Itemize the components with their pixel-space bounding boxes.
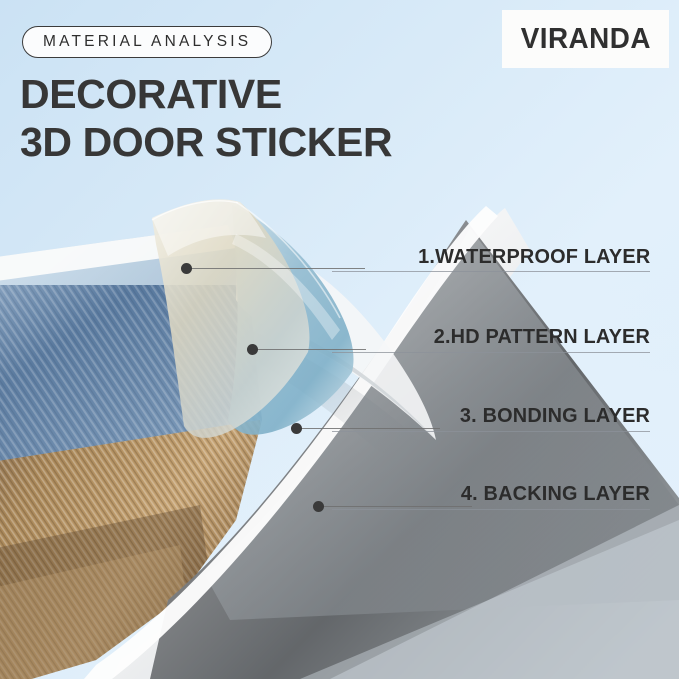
page-title-line-1: DECORATIVE bbox=[20, 71, 282, 117]
page-title-line-2: 3D DOOR STICKER bbox=[20, 118, 392, 166]
eyebrow-badge: MATERIAL ANALYSIS bbox=[22, 26, 272, 58]
callout-rule-1 bbox=[332, 271, 650, 272]
callout-label-3-text: 3. BONDING LAYER bbox=[460, 404, 650, 428]
callout-dot-1 bbox=[181, 263, 192, 274]
callout-label-2: 2.HD PATTERN LAYER bbox=[330, 325, 650, 349]
brand-logo: VIRANDA bbox=[502, 10, 669, 68]
infographic-canvas: MATERIAL ANALYSIS VIRANDA DECORATIVE 3D … bbox=[0, 0, 679, 679]
eyebrow-label: MATERIAL ANALYSIS bbox=[43, 33, 251, 51]
leader-line-3 bbox=[300, 428, 440, 429]
callout-rule-2 bbox=[332, 352, 650, 353]
callout-label-4: 4. BACKING LAYER bbox=[330, 482, 650, 506]
callout-dot-4 bbox=[313, 501, 324, 512]
callout-label-2-text: 2.HD PATTERN LAYER bbox=[434, 325, 650, 349]
callout-label-1: 1.WATERPROOF LAYER bbox=[330, 245, 650, 269]
callout-rule-4 bbox=[332, 509, 650, 510]
callout-label-3: 3. BONDING LAYER bbox=[330, 404, 650, 428]
callout-dot-2 bbox=[247, 344, 258, 355]
brand-name: VIRANDA bbox=[520, 23, 650, 56]
leader-line-4 bbox=[322, 506, 472, 507]
callout-rule-3 bbox=[332, 431, 650, 432]
page-title: DECORATIVE 3D DOOR STICKER bbox=[20, 70, 392, 166]
callout-dot-3 bbox=[291, 423, 302, 434]
callout-label-1-text: 1.WATERPROOF LAYER bbox=[418, 245, 650, 269]
leader-line-2 bbox=[256, 349, 366, 350]
callout-label-4-text: 4. BACKING LAYER bbox=[461, 482, 650, 506]
